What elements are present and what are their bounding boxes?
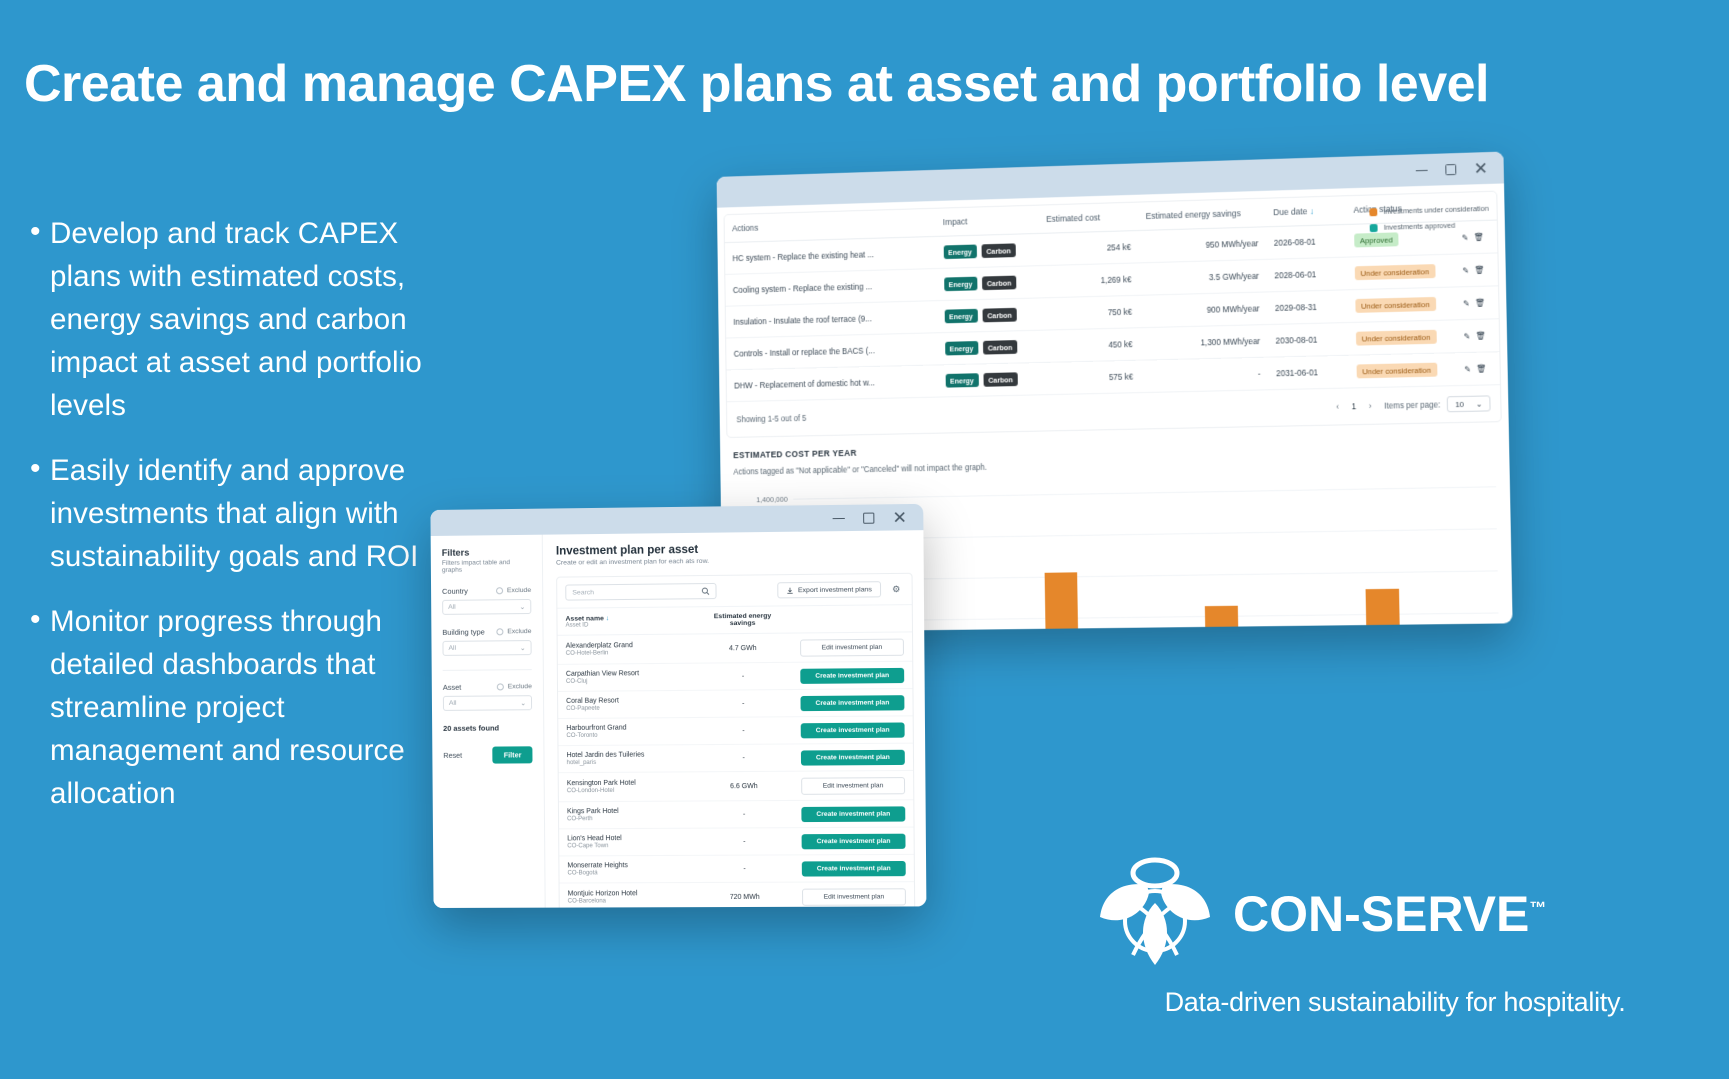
cell-cta: Create investment plan bbox=[793, 800, 913, 828]
cell-savings: - bbox=[695, 855, 794, 883]
cell-action: DHW - Replacement of domestic hot w... bbox=[727, 365, 938, 402]
filter-asset: Asset Exclude All ⌄ bbox=[443, 682, 532, 711]
cell-cta: Create investment plan bbox=[794, 854, 914, 882]
minimize-icon[interactable] bbox=[1416, 169, 1428, 170]
create-investment-plan-button[interactable]: Create investment plan bbox=[801, 806, 905, 822]
cell-cost: 750 k€ bbox=[1040, 295, 1140, 330]
select-value: All bbox=[449, 700, 457, 707]
create-investment-plan-button[interactable]: Create investment plan bbox=[802, 833, 906, 849]
table-row[interactable]: Lion's Head Hotel CO-Cape Town - Create … bbox=[559, 827, 914, 856]
asset-id: CO-Perth bbox=[567, 816, 687, 823]
filters-sidebar: Filters Filters impact table and graphs … bbox=[431, 535, 546, 908]
list-item: • Develop and track CAPEX plans with est… bbox=[24, 212, 464, 427]
impact-chip-carbon: Carbon bbox=[982, 308, 1016, 323]
asset-id: CO-Cluj bbox=[566, 678, 686, 685]
exclude-toggle[interactable]: Exclude bbox=[496, 628, 531, 635]
building-type-select[interactable]: All ⌄ bbox=[442, 640, 531, 656]
cell-asset: Montjuic Horizon Hotel CO-Barcelona bbox=[560, 883, 696, 908]
delete-icon[interactable]: 🗑 bbox=[1476, 363, 1492, 373]
cell-status: Under consideration bbox=[1348, 353, 1456, 388]
impact-chip-carbon: Carbon bbox=[981, 243, 1015, 258]
column-impact[interactable]: Impact bbox=[935, 206, 1039, 237]
cell-cta: Edit investment plan bbox=[793, 770, 913, 800]
exclude-label: Exclude bbox=[508, 683, 532, 690]
cell-savings: 900 MWh/year bbox=[1139, 292, 1267, 328]
table-row[interactable]: Coral Bay Resort CO-Papeete - Create inv… bbox=[558, 689, 913, 719]
cell-status: Under consideration bbox=[1347, 287, 1455, 323]
bar[interactable] bbox=[1366, 589, 1401, 633]
page-title: Create and manage CAPEX plans at asset a… bbox=[24, 52, 1584, 118]
legend-swatch-icon bbox=[1370, 224, 1378, 232]
create-investment-plan-button[interactable]: Create investment plan bbox=[800, 695, 904, 711]
filter-label: Building type bbox=[442, 627, 484, 636]
cell-savings: 950 MWh/year bbox=[1138, 227, 1266, 263]
cell-savings: - bbox=[694, 662, 793, 690]
cell-savings: 4.7 GWh bbox=[694, 633, 793, 663]
bullet-marker-icon: • bbox=[24, 212, 50, 427]
delete-icon[interactable]: 🗑 bbox=[1475, 330, 1491, 340]
chevron-down-icon: ⌄ bbox=[520, 644, 526, 652]
bullet-text: Develop and track CAPEX plans with estim… bbox=[50, 212, 464, 427]
cell-impact: Energy Carbon bbox=[938, 362, 1042, 397]
cell-cta: Create investment plan bbox=[793, 827, 913, 855]
cell-cost: 1,269 k€ bbox=[1039, 263, 1139, 298]
select-value: All bbox=[448, 645, 456, 652]
create-investment-plan-button[interactable]: Create investment plan bbox=[801, 749, 905, 765]
exclude-label: Exclude bbox=[507, 587, 531, 594]
bullet-text: Easily identify and approve investments … bbox=[50, 449, 464, 578]
asset-id: CO-Hotel-Berlin bbox=[566, 650, 686, 657]
cell-savings: - bbox=[694, 744, 793, 772]
bar-column-2031[interactable] bbox=[1364, 476, 1401, 632]
minimize-icon[interactable] bbox=[832, 517, 844, 518]
edit-icon[interactable]: ✎ bbox=[1463, 297, 1475, 307]
edit-investment-plan-button[interactable]: Edit investment plan bbox=[801, 777, 905, 795]
cell-status: Under consideration bbox=[1346, 254, 1454, 290]
bullet-text: Monitor progress through detailed dashbo… bbox=[50, 600, 464, 815]
assets-table: Asset name ↓ Asset ID Estimated energy s… bbox=[557, 605, 914, 908]
exclude-label: Exclude bbox=[507, 628, 531, 635]
divider bbox=[443, 669, 532, 671]
edit-icon[interactable]: ✎ bbox=[1464, 330, 1476, 340]
exclude-toggle[interactable]: Exclude bbox=[496, 587, 531, 594]
cell-due-date: 2028-06-01 bbox=[1266, 257, 1347, 292]
cell-row-actions: ✎🗑 bbox=[1455, 319, 1499, 353]
sort-arrow-icon: ↓ bbox=[606, 615, 609, 622]
asset-name: Coral Bay Resort bbox=[566, 697, 619, 704]
search-input[interactable]: Search bbox=[565, 583, 716, 601]
filter-country: Country Exclude All ⌄ bbox=[442, 586, 531, 615]
export-label: Export investment plans bbox=[798, 586, 872, 594]
asset-id: CO-Toronto bbox=[566, 732, 686, 739]
cell-row-actions: ✎🗑 bbox=[1455, 286, 1499, 320]
cell-row-actions: ✎🗑 bbox=[1456, 352, 1500, 386]
items-per-page: Items per page: 10 ⌄ bbox=[1384, 395, 1490, 413]
impact-chip-carbon: Carbon bbox=[983, 340, 1017, 354]
asset-name: Hotel Jardin des Tuileries bbox=[567, 752, 645, 760]
filter-button[interactable]: Filter bbox=[493, 746, 533, 763]
table-row[interactable]: Carpathian View Resort CO-Cluj - Create … bbox=[558, 661, 913, 691]
asset-name: Carpathian View Resort bbox=[566, 670, 639, 678]
next-page-button[interactable]: › bbox=[1369, 401, 1372, 410]
cell-asset: Carpathian View Resort CO-Cluj bbox=[558, 663, 694, 691]
checkbox-icon[interactable] bbox=[496, 587, 503, 594]
asset-name: Monserrate Heights bbox=[567, 862, 628, 869]
cell-due-date: 2026-08-01 bbox=[1266, 224, 1347, 259]
items-per-page-select[interactable]: 10 ⌄ bbox=[1447, 395, 1490, 412]
asset-name: Alexanderplatz Grand bbox=[566, 642, 633, 650]
pagination: ‹ 1 › Items per page: 10 ⌄ bbox=[1336, 395, 1491, 414]
cell-asset: Kensington Park Hotel CO-London-Hotel bbox=[559, 772, 695, 802]
table-row[interactable]: Harbourfront Grand CO-Toronto - Create i… bbox=[558, 716, 913, 746]
cell-due-date: 2031-06-01 bbox=[1268, 355, 1349, 390]
close-icon[interactable]: ✕ bbox=[1474, 163, 1488, 174]
conserve-flower-icon bbox=[1095, 855, 1215, 973]
select-value: All bbox=[448, 604, 456, 611]
status-badge: Under consideration bbox=[1354, 264, 1435, 280]
table-row[interactable]: Alexanderplatz Grand CO-Hotel-Berlin 4.7… bbox=[558, 632, 913, 664]
cell-impact: Energy Carbon bbox=[936, 233, 1040, 268]
create-investment-plan-button[interactable]: Create investment plan bbox=[802, 860, 906, 876]
edit-icon[interactable]: ✎ bbox=[1462, 265, 1474, 275]
impact-chip-energy: Energy bbox=[944, 309, 977, 323]
cell-savings: - bbox=[694, 690, 793, 718]
cell-cta: Create investment plan bbox=[793, 743, 913, 771]
column-asset-name[interactable]: Asset name ↓ Asset ID bbox=[557, 607, 693, 635]
status-badge: Under consideration bbox=[1356, 363, 1437, 379]
assets-toolbar: Search Export investment plans ⚙ bbox=[557, 574, 912, 609]
close-icon[interactable]: ✕ bbox=[892, 512, 907, 523]
asset-id: CO-Bogotá bbox=[567, 870, 687, 877]
list-item: • Monitor progress through detailed dash… bbox=[24, 600, 464, 815]
cell-row-actions: ✎🗑 bbox=[1454, 253, 1498, 287]
assets-found-count: 20 assets found bbox=[443, 723, 532, 733]
cell-cost: 575 k€ bbox=[1041, 360, 1141, 395]
table-row[interactable]: Hotel Jardin des Tuileries hotel_paris -… bbox=[558, 743, 913, 773]
filter-building-type: Building type Exclude All ⌄ bbox=[442, 627, 531, 656]
column-asset-id: Asset ID bbox=[566, 621, 686, 628]
cell-cost: 450 k€ bbox=[1040, 328, 1140, 363]
cell-cta: Edit investment plan bbox=[794, 882, 914, 908]
bullet-list: • Develop and track CAPEX plans with est… bbox=[24, 212, 464, 837]
cell-asset: Lion's Head Hotel CO-Cape Town bbox=[559, 828, 695, 856]
country-select[interactable]: All ⌄ bbox=[442, 599, 531, 615]
filter-label: Asset bbox=[443, 683, 462, 692]
cell-savings: 720 MWh bbox=[696, 882, 795, 908]
chevron-down-icon: ⌄ bbox=[520, 603, 526, 611]
cell-savings: - bbox=[1140, 357, 1268, 392]
chart-legend: Investments under consideration Investme… bbox=[1370, 204, 1490, 232]
trademark-symbol: ™ bbox=[1529, 898, 1546, 917]
filters-subtitle: Filters impact table and graphs bbox=[442, 559, 531, 574]
cell-due-date: 2030-08-01 bbox=[1268, 323, 1349, 358]
cell-cta: Create investment plan bbox=[792, 661, 912, 689]
cell-savings: - bbox=[695, 800, 794, 828]
asset-id: CO-Papeete bbox=[566, 705, 686, 712]
asset-name: Kings Park Hotel bbox=[567, 808, 619, 815]
checkbox-icon[interactable] bbox=[496, 628, 503, 635]
y-tick-label: 1,400,000 bbox=[756, 494, 788, 503]
table-row[interactable]: Kensington Park Hotel CO-London-Hotel 6.… bbox=[559, 770, 914, 801]
maximize-icon[interactable] bbox=[1445, 164, 1456, 175]
cell-asset: Harbourfront Grand CO-Toronto bbox=[558, 718, 694, 746]
assets-card: Search Export investment plans ⚙ bbox=[556, 573, 915, 908]
search-icon bbox=[701, 587, 709, 595]
filter-label: Country bbox=[442, 587, 468, 596]
brand-tagline: Data-driven sustainability for hospitali… bbox=[1095, 987, 1695, 1018]
impact-chip-energy: Energy bbox=[943, 245, 976, 260]
showing-count: Showing 1-5 out of 5 bbox=[736, 414, 806, 424]
checkbox-icon[interactable] bbox=[497, 683, 504, 690]
cell-status: Under consideration bbox=[1348, 320, 1456, 355]
column-due-date[interactable]: Due date ↓ bbox=[1265, 196, 1346, 227]
impact-chip-energy: Energy bbox=[945, 373, 978, 387]
impact-chip-carbon: Carbon bbox=[983, 372, 1017, 386]
bullet-marker-icon: • bbox=[24, 449, 50, 578]
bar[interactable] bbox=[1045, 572, 1079, 632]
table-row[interactable]: Montjuic Horizon Hotel CO-Barcelona 720 … bbox=[560, 882, 915, 908]
cell-asset: Hotel Jardin des Tuileries hotel_paris bbox=[558, 745, 694, 773]
delete-icon[interactable]: 🗑 bbox=[1474, 264, 1490, 274]
bar-column-2029[interactable] bbox=[1043, 482, 1078, 633]
cell-asset: Kings Park Hotel CO-Perth bbox=[559, 801, 695, 829]
column-estimated-cost[interactable]: Estimated cost bbox=[1038, 203, 1138, 234]
status-badge: Approved bbox=[1354, 232, 1399, 247]
asset-id: CO-Barcelona bbox=[568, 898, 688, 904]
cell-savings: - bbox=[694, 717, 793, 745]
list-item: • Easily identify and approve investment… bbox=[24, 449, 464, 578]
filters-title: Filters bbox=[442, 547, 531, 558]
table-row[interactable]: Kings Park Hotel CO-Perth - Create inves… bbox=[559, 800, 914, 829]
cell-asset: Alexanderplatz Grand CO-Hotel-Berlin bbox=[558, 634, 694, 664]
asset-name: Montjuic Horizon Hotel bbox=[568, 890, 638, 897]
column-estimated-energy-savings[interactable]: Estimated energy savings bbox=[693, 606, 791, 634]
cell-cta: Edit investment plan bbox=[792, 632, 912, 662]
cell-action: Insulation - Insulate the roof terrace (… bbox=[726, 301, 937, 338]
asset-id: CO-London-Hotel bbox=[567, 787, 687, 794]
asset-id: hotel_paris bbox=[567, 759, 687, 766]
cell-cta: Create investment plan bbox=[792, 716, 912, 744]
table-header-row: Asset name ↓ Asset ID Estimated energy s… bbox=[557, 605, 912, 635]
cell-impact: Energy Carbon bbox=[937, 298, 1041, 333]
search-placeholder: Search bbox=[572, 589, 594, 596]
asset-name: Harbourfront Grand bbox=[566, 725, 626, 732]
download-icon bbox=[787, 587, 794, 594]
asset-name: Lion's Head Hotel bbox=[567, 835, 622, 842]
table-row[interactable]: Monserrate Heights CO-Bogotá - Create in… bbox=[559, 854, 914, 883]
cell-asset: Coral Bay Resort CO-Papeete bbox=[558, 690, 694, 718]
gear-icon[interactable]: ⚙ bbox=[889, 583, 903, 594]
chevron-down-icon: ⌄ bbox=[1476, 399, 1483, 408]
cell-asset: Monserrate Heights CO-Bogotá bbox=[559, 855, 695, 883]
page-number[interactable]: 1 bbox=[1352, 402, 1357, 411]
edit-icon[interactable]: ✎ bbox=[1464, 363, 1476, 373]
create-investment-plan-button[interactable]: Create investment plan bbox=[800, 667, 904, 683]
actions-table-body: HC system - Replace the existing heat ..… bbox=[725, 220, 1500, 402]
cell-savings: 6.6 GWh bbox=[695, 771, 794, 801]
bar-column-2030[interactable] bbox=[1202, 479, 1238, 633]
cell-savings: 1,300 MWh/year bbox=[1140, 325, 1268, 361]
brand-name: CON-SERVE™ bbox=[1233, 885, 1546, 943]
create-investment-plan-button[interactable]: Create investment plan bbox=[801, 722, 905, 738]
status-badge: Under consideration bbox=[1356, 330, 1437, 346]
asset-select[interactable]: All ⌄ bbox=[443, 695, 532, 711]
cell-due-date: 2029-08-31 bbox=[1267, 290, 1348, 325]
column-cta bbox=[792, 605, 912, 633]
exclude-toggle[interactable]: Exclude bbox=[497, 683, 532, 690]
edit-investment-plan-button[interactable]: Edit investment plan bbox=[800, 638, 904, 656]
items-per-page-value: 10 bbox=[1455, 399, 1464, 408]
legend-swatch-icon bbox=[1370, 208, 1378, 216]
legend-label: Investments under consideration bbox=[1383, 204, 1488, 216]
cell-action: Controls - Install or replace the BACS (… bbox=[726, 333, 937, 370]
impact-chip-energy: Energy bbox=[945, 341, 978, 355]
asset-id: CO-Cape Town bbox=[567, 843, 687, 850]
export-investment-plans-button[interactable]: Export investment plans bbox=[778, 581, 881, 598]
investment-main: Investment plan per asset Create or edit… bbox=[543, 530, 927, 907]
impact-chip-carbon: Carbon bbox=[982, 276, 1016, 291]
cell-impact: Energy Carbon bbox=[936, 266, 1040, 301]
impact-chip-energy: Energy bbox=[944, 277, 977, 292]
bullet-marker-icon: • bbox=[24, 600, 50, 815]
cell-cost: 254 k€ bbox=[1039, 231, 1139, 266]
chevron-down-icon: ⌄ bbox=[520, 699, 526, 707]
column-estimated-energy-savings[interactable]: Estimated energy savings bbox=[1138, 199, 1266, 231]
status-badge: Under consideration bbox=[1355, 297, 1436, 313]
filter-actions: Reset Filter bbox=[443, 746, 532, 764]
cell-savings: 3.5 GWh/year bbox=[1139, 259, 1267, 295]
assets-table-body: Alexanderplatz Grand CO-Hotel-Berlin 4.7… bbox=[558, 632, 915, 908]
reset-button[interactable]: Reset bbox=[443, 751, 462, 760]
cell-impact: Energy Carbon bbox=[937, 330, 1041, 365]
investment-plan-window: ✕ Filters Filters impact table and graph… bbox=[430, 504, 926, 908]
edit-icon[interactable]: ✎ bbox=[1462, 232, 1474, 242]
items-per-page-label: Items per page: bbox=[1384, 400, 1440, 410]
cell-savings: - bbox=[695, 828, 794, 856]
prev-page-button[interactable]: ‹ bbox=[1336, 402, 1339, 411]
edit-investment-plan-button[interactable]: Edit investment plan bbox=[802, 888, 906, 906]
asset-name: Kensington Park Hotel bbox=[567, 780, 636, 787]
brand-logo: CON-SERVE™ Data-driven sustainability fo… bbox=[1095, 855, 1695, 1018]
delete-icon[interactable]: 🗑 bbox=[1475, 297, 1491, 307]
bar[interactable] bbox=[1205, 606, 1239, 633]
maximize-icon[interactable] bbox=[863, 512, 874, 523]
sort-arrow-icon: ↓ bbox=[1310, 206, 1314, 216]
investment-subheading: Create or edit an investment plan for ea… bbox=[556, 556, 912, 567]
delete-icon[interactable]: 🗑 bbox=[1474, 231, 1490, 241]
cell-cta: Create investment plan bbox=[792, 689, 912, 717]
